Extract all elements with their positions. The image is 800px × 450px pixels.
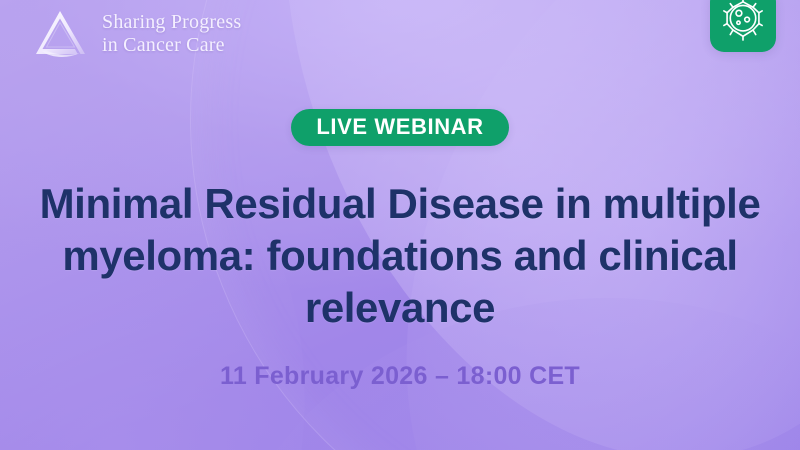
webinar-banner: Sharing Progress in Cancer Care	[0, 0, 800, 450]
webinar-title: Minimal Residual Disease in multiple mye…	[20, 178, 780, 334]
live-webinar-badge: LIVE WEBINAR	[291, 109, 508, 146]
banner-content: LIVE WEBINAR Minimal Residual Disease in…	[0, 0, 800, 391]
webinar-datetime: 11 February 2026 – 18:00 CET	[220, 362, 580, 391]
